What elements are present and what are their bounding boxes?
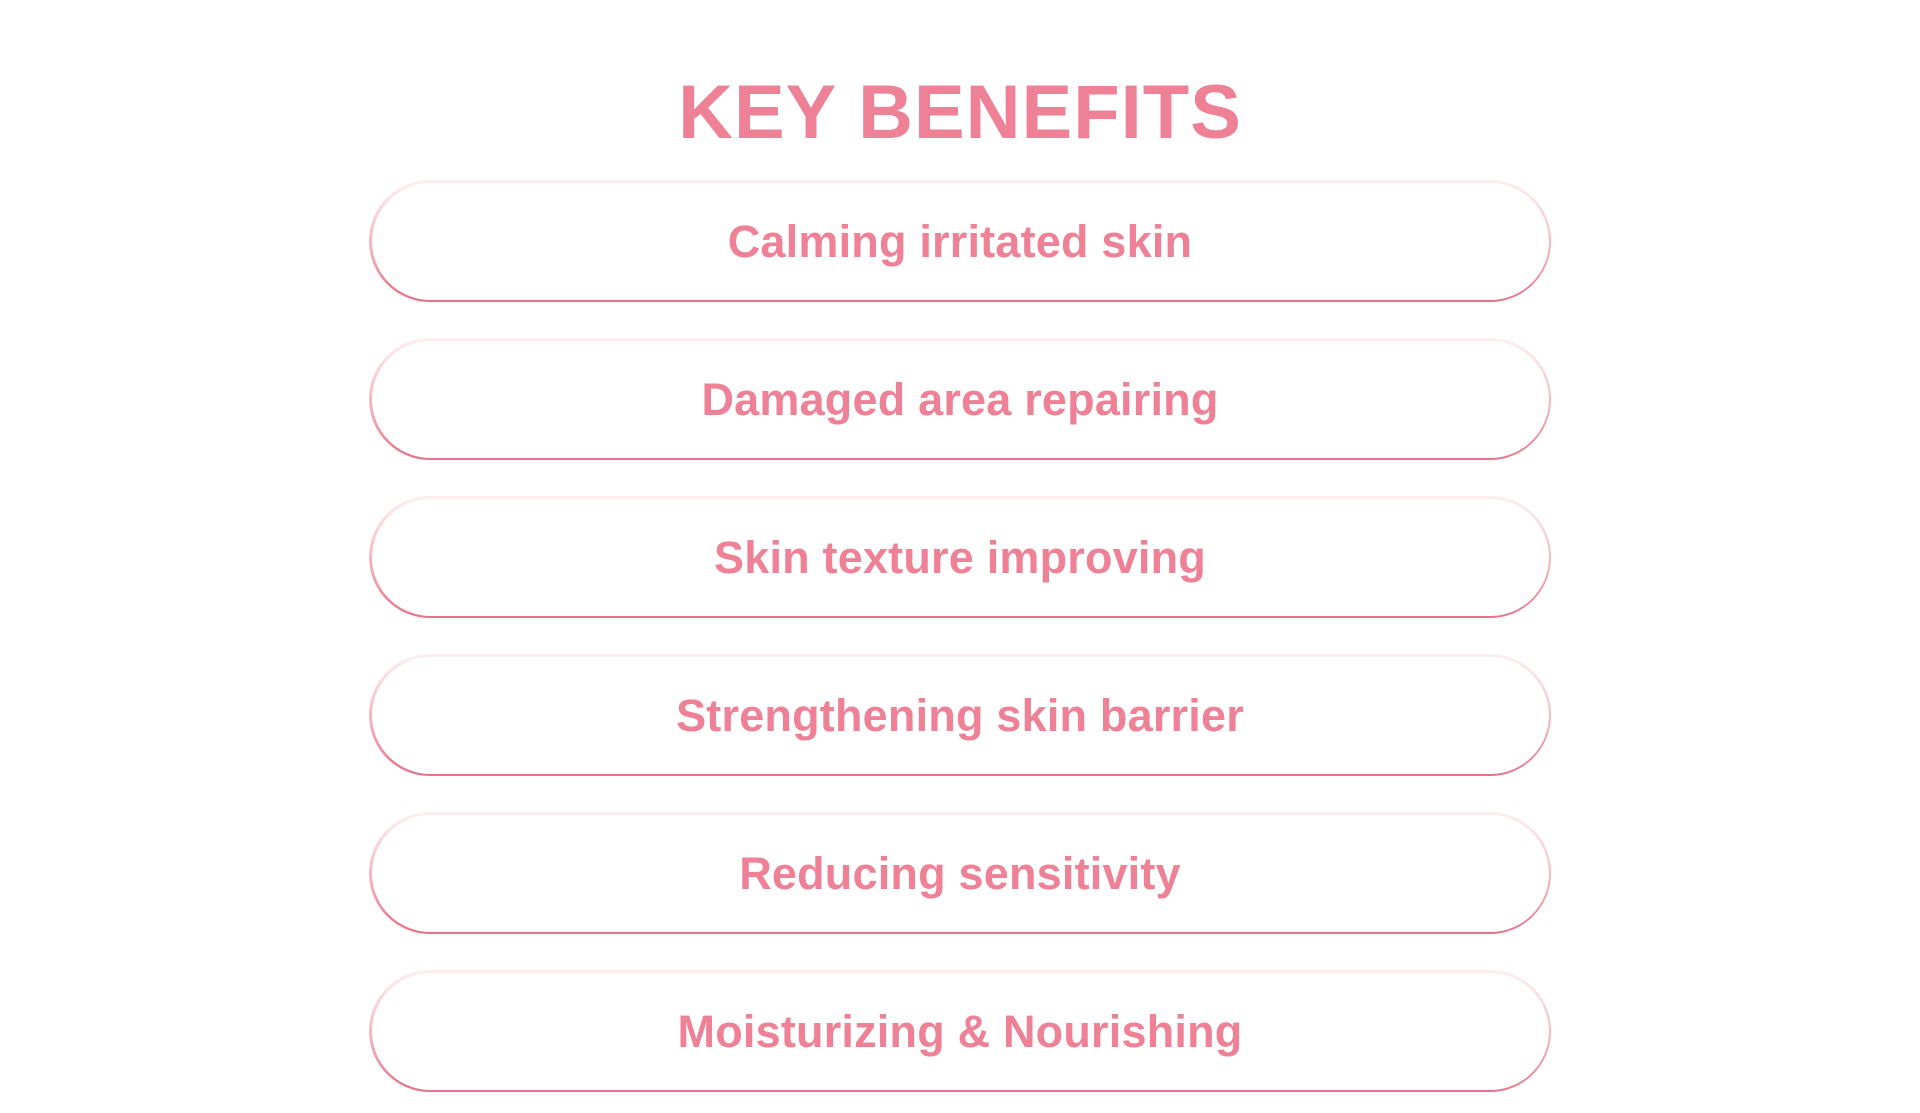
benefit-label: Moisturizing & Nourishing bbox=[678, 1009, 1243, 1054]
benefits-list: Calming irritated skin Damaged area repa… bbox=[0, 180, 1920, 1092]
key-benefits-page: KEY BENEFITS Calming irritated skin Dama… bbox=[0, 0, 1920, 1113]
benefit-label: Skin texture improving bbox=[714, 535, 1206, 580]
benefit-pill-moisturizing[interactable]: Moisturizing & Nourishing bbox=[369, 970, 1551, 1092]
page-title: KEY BENEFITS bbox=[678, 75, 1242, 151]
benefit-label: Calming irritated skin bbox=[728, 219, 1193, 264]
benefit-pill-calming[interactable]: Calming irritated skin bbox=[369, 180, 1551, 302]
benefit-label: Damaged area repairing bbox=[701, 377, 1218, 422]
benefit-pill-damaged-area[interactable]: Damaged area repairing bbox=[369, 338, 1551, 460]
benefit-pill-skin-texture[interactable]: Skin texture improving bbox=[369, 496, 1551, 618]
benefit-pill-sensitivity[interactable]: Reducing sensitivity bbox=[369, 812, 1551, 934]
benefit-label: Strengthening skin barrier bbox=[676, 693, 1244, 738]
page-title-container: KEY BENEFITS bbox=[0, 24, 1920, 202]
benefit-label: Reducing sensitivity bbox=[739, 851, 1181, 896]
benefit-pill-skin-barrier[interactable]: Strengthening skin barrier bbox=[369, 654, 1551, 776]
